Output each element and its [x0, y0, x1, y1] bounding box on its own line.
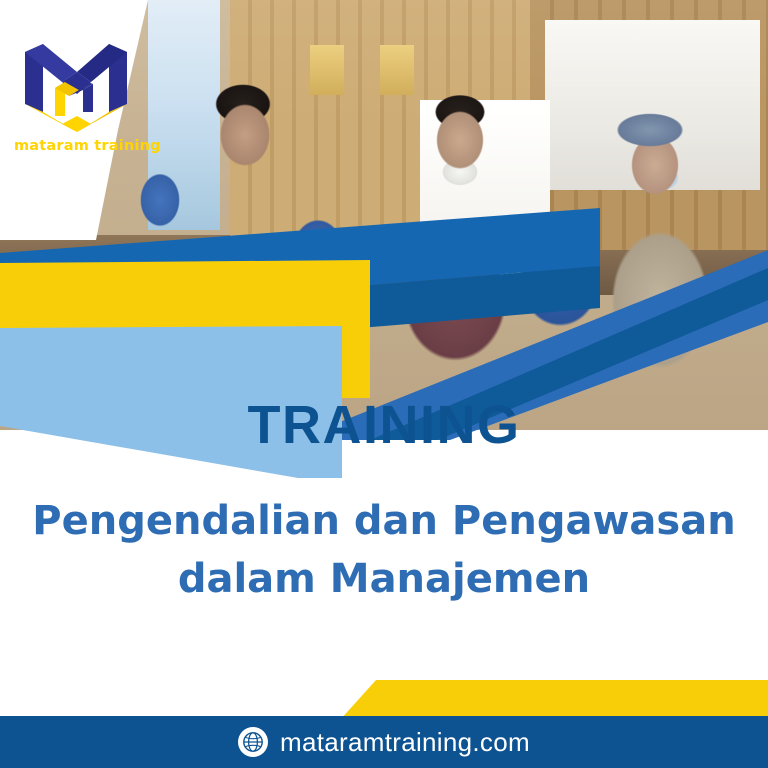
bottom-yellow-wedge — [340, 680, 768, 720]
footer-website-url[interactable]: mataramtraining.com — [280, 727, 530, 758]
mataram-m-logo-icon — [21, 40, 131, 132]
page-subtitle: Pengendalian dan Pengawasan dalam Manaje… — [4, 492, 764, 608]
brand-logo: mataram training — [14, 40, 138, 154]
page-title: TRAINING — [0, 394, 768, 456]
globe-icon — [238, 727, 268, 757]
footer-bar: mataramtraining.com — [0, 716, 768, 768]
poster-canvas: mataram training TRAINING Pengendalian d… — [0, 0, 768, 768]
logo-wordmark: mataram training — [14, 138, 138, 154]
